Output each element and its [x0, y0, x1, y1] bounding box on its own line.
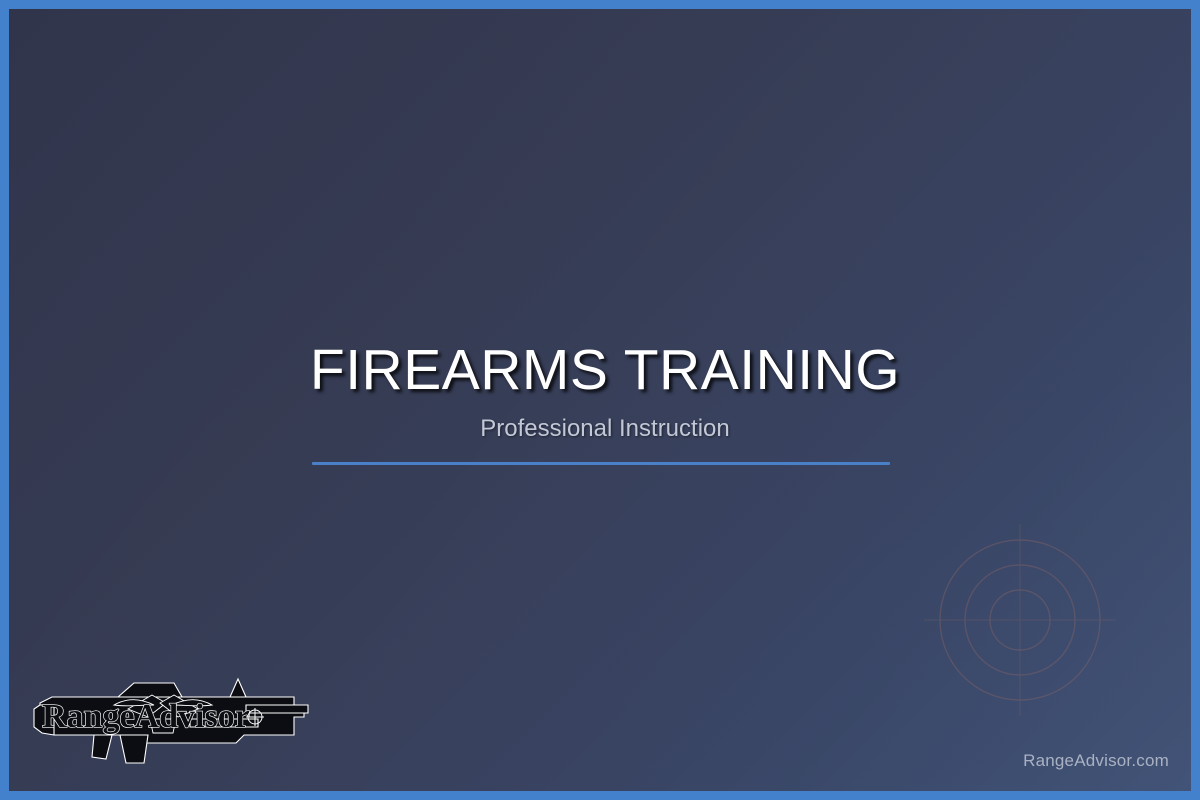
brand-logo: RangeAdvisor — [32, 675, 312, 767]
page-subtitle: Professional Instruction — [9, 415, 1200, 444]
accent-divider — [312, 462, 890, 465]
crosshair-reticle-icon — [920, 520, 1120, 720]
page-title: FIREARMS TRAINING — [9, 341, 1200, 401]
brand-wordmark: RangeAdvisor — [42, 698, 250, 735]
title-slide: FIREARMS TRAINING Professional Instructi… — [0, 0, 1200, 800]
title-block: FIREARMS TRAINING Professional Instructi… — [9, 341, 1200, 444]
footer-website: RangeAdvisor.com — [1023, 751, 1169, 771]
